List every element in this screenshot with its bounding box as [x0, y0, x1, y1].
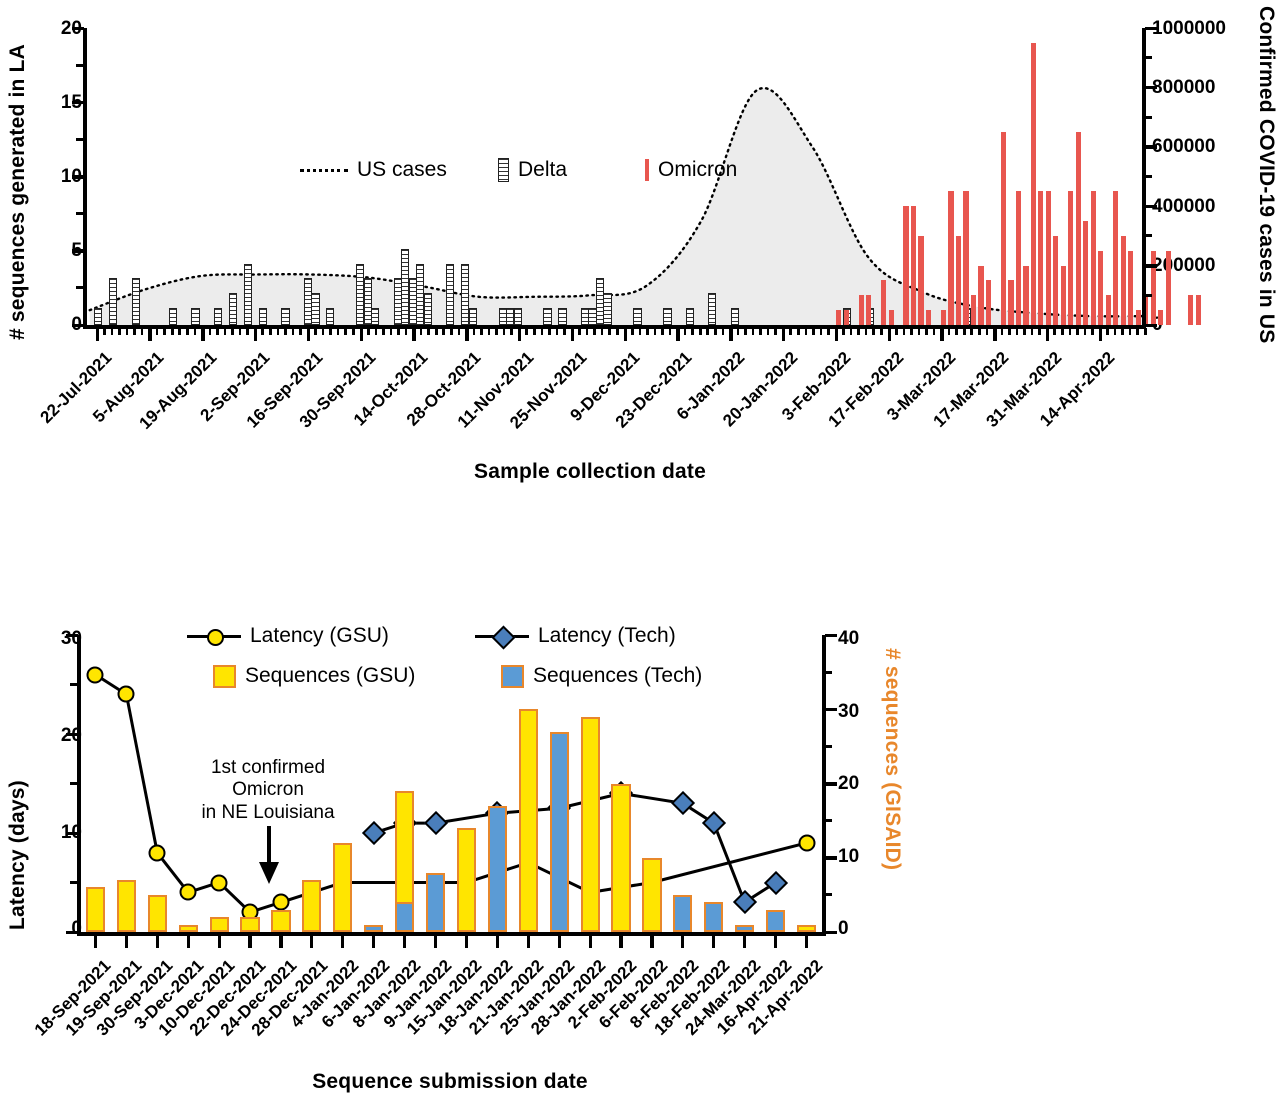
omicron-bar: [1061, 266, 1066, 325]
axis-tick: [797, 328, 800, 335]
axis-tick: [548, 328, 551, 335]
axis-tick: [888, 328, 892, 341]
sequences-gsu-bar: [642, 858, 661, 932]
latency-gsu-marker: [798, 834, 815, 851]
axis-tick: [216, 328, 219, 335]
axis-tick: [1145, 324, 1157, 328]
axis-tick: [948, 328, 951, 335]
axis-tick: [774, 328, 777, 335]
axis-tick: [986, 328, 989, 335]
axis-tick: [714, 328, 717, 335]
axis-tick: [148, 328, 152, 341]
sequences-tech-bar-overlay: [395, 902, 414, 932]
sequences-tech-bar: [488, 806, 507, 932]
axis-tick: [676, 328, 680, 341]
axis-tick: [465, 935, 468, 948]
bottom-right-ytick-0: 0: [838, 918, 849, 940]
axis-tick: [1084, 328, 1087, 335]
delta-bar: [311, 293, 319, 325]
axis-tick: [397, 328, 400, 335]
legend-item-us-cases[interactable]: US cases: [300, 158, 447, 182]
bottom-x-tick-labels: 18-Sep-202119-Sep-202130-Sep-20213-Dec-2…: [0, 600, 1280, 760]
latency-tech-marker: [671, 791, 695, 815]
delta-bar: [109, 278, 117, 325]
axis-tick: [277, 328, 280, 335]
axis-tick: [405, 328, 408, 335]
omicron-bar: [1128, 251, 1133, 325]
axis-tick: [442, 328, 445, 335]
axis-tick: [382, 328, 385, 335]
axis-tick: [872, 328, 875, 335]
axis-tick: [510, 328, 513, 335]
axis-tick: [918, 328, 921, 335]
sequences-tech-bar: [364, 925, 383, 932]
axis-tick: [978, 328, 981, 335]
axis-tick: [261, 328, 264, 335]
axis-tick: [835, 328, 839, 341]
axis-tick: [329, 328, 332, 335]
axis-tick: [156, 328, 159, 335]
delta-bar: [663, 308, 671, 325]
axis-tick: [624, 328, 628, 341]
axis-tick: [963, 328, 966, 335]
delta-bar: [603, 293, 611, 325]
axis-tick: [126, 328, 129, 335]
delta-bar: [169, 308, 177, 325]
axis-tick: [171, 328, 174, 335]
sequences-gsu-bar: [333, 843, 352, 932]
omicron-bar: [1151, 251, 1156, 325]
delta-bar: [132, 278, 140, 325]
axis-tick: [661, 328, 664, 335]
red-bar-icon: [645, 159, 649, 181]
axis-tick: [699, 328, 702, 335]
axis-tick: [827, 328, 830, 335]
axis-tick: [186, 328, 189, 335]
axis-tick: [1076, 328, 1079, 335]
axis-tick: [337, 328, 340, 335]
sequences-gsu-bar: [581, 717, 600, 932]
axis-tick: [812, 328, 815, 335]
omicron-bar: [903, 206, 908, 325]
axis-tick: [224, 328, 227, 335]
axis-tick: [269, 328, 272, 335]
axis-tick: [639, 328, 642, 335]
omicron-bar: [978, 266, 983, 325]
axis-tick: [141, 328, 144, 335]
omicron-bar: [1008, 280, 1013, 325]
omicron-bar: [956, 236, 961, 325]
axis-tick: [70, 881, 78, 884]
axis-tick: [654, 328, 657, 335]
legend-label-delta: Delta: [518, 158, 567, 182]
latency-gsu-marker: [180, 884, 197, 901]
omicron-bar: [866, 295, 871, 325]
axis-tick: [1106, 328, 1109, 335]
axis-tick: [825, 856, 837, 860]
legend-label-us-cases: US cases: [357, 158, 447, 182]
axis-tick: [360, 328, 364, 341]
axis-tick: [239, 328, 242, 335]
top-right-ytick-200000: 200000: [1152, 255, 1215, 277]
axis-tick: [616, 328, 619, 335]
axis-tick: [352, 328, 355, 335]
omicron-annotation-line3: in NE Louisiana: [183, 802, 353, 824]
axis-tick: [825, 931, 837, 935]
axis-tick: [310, 935, 313, 948]
axis-tick: [608, 328, 611, 335]
axis-tick: [805, 328, 808, 335]
sequences-gsu-bar: [611, 784, 630, 933]
axis-tick: [1061, 328, 1064, 335]
axis-tick: [1144, 328, 1147, 335]
figure-root: # sequences generated in LA Confirmed CO…: [0, 0, 1280, 1096]
delta-bar: [633, 308, 641, 325]
axis-tick: [72, 324, 84, 328]
axis-tick: [66, 931, 78, 935]
axis-tick: [1031, 328, 1034, 335]
omicron-bar: [986, 280, 991, 325]
axis-tick: [556, 328, 559, 335]
axis-tick: [910, 328, 913, 335]
omicron-bar: [889, 310, 894, 325]
axis-tick: [767, 328, 770, 335]
omicron-bar: [1001, 132, 1006, 325]
axis-tick: [279, 935, 282, 948]
axis-tick: [367, 328, 370, 335]
axis-tick: [820, 328, 823, 335]
sequences-gsu-bar: [148, 895, 167, 932]
sequences-tech-bar: [550, 732, 569, 932]
omicron-bar: [859, 295, 864, 325]
axis-tick: [322, 328, 325, 335]
omicron-bar: [836, 310, 841, 325]
latency-tech-marker: [702, 811, 726, 835]
axis-tick: [1016, 328, 1019, 335]
axis-tick: [842, 328, 845, 335]
axis-tick: [403, 935, 406, 948]
omicron-bar: [1136, 310, 1141, 325]
axis-tick: [880, 328, 883, 335]
axis-tick: [458, 328, 461, 335]
axis-tick: [805, 935, 808, 948]
axis-tick: [865, 328, 868, 335]
delta-bar: [214, 308, 222, 325]
sequences-tech-bar: [673, 895, 692, 932]
legend-label-omicron: Omicron: [658, 158, 737, 182]
delta-bar: [371, 308, 379, 325]
axis-tick: [218, 935, 221, 948]
axis-tick: [993, 328, 997, 341]
bottom-x-axis-title: Sequence submission date: [0, 1070, 900, 1094]
axis-tick: [774, 935, 777, 948]
omicron-bar: [1083, 221, 1088, 325]
axis-tick: [412, 328, 416, 341]
axis-tick: [933, 328, 936, 335]
axis-tick: [254, 328, 258, 341]
latency-gsu-marker: [211, 874, 228, 891]
axis-tick: [619, 935, 622, 948]
delta-bar: [259, 308, 267, 325]
axis-tick: [1145, 205, 1157, 209]
axis-tick: [231, 328, 234, 335]
axis-tick: [940, 328, 944, 341]
omicron-bar: [1098, 251, 1103, 325]
axis-tick: [650, 935, 653, 948]
omicron-bar: [1158, 310, 1163, 325]
bottom-right-ytick-10: 10: [838, 846, 859, 868]
axis-tick: [246, 328, 249, 335]
axis-tick: [1121, 328, 1124, 335]
axis-tick: [299, 328, 302, 335]
axis-tick: [201, 328, 205, 341]
sequences-gsu-bar: [302, 880, 321, 932]
axis-tick: [857, 328, 860, 335]
axis-tick: [578, 328, 581, 335]
omicron-bar: [911, 206, 916, 325]
axis-tick: [76, 286, 84, 289]
axis-tick: [1145, 294, 1152, 297]
axis-tick: [495, 328, 498, 335]
omicron-bar: [1106, 295, 1111, 325]
omicron-bar: [1091, 191, 1096, 325]
omicron-bar: [918, 236, 923, 325]
bottom-latency-panel: Latency (days) # sequences (GISAID) 0 10…: [0, 600, 1280, 1096]
axis-tick: [480, 328, 483, 335]
axis-tick: [496, 935, 499, 948]
sequences-gsu-bar: [210, 917, 229, 932]
axis-tick: [284, 328, 287, 335]
omicron-bar: [926, 310, 931, 325]
axis-tick: [541, 328, 544, 335]
omicron-bar: [1046, 191, 1051, 325]
axis-tick: [1053, 328, 1056, 335]
axis-tick: [589, 935, 592, 948]
hatched-bar-icon: [498, 158, 509, 182]
axis-tick: [850, 328, 853, 335]
axis-tick: [1038, 328, 1041, 335]
omicron-bar: [971, 295, 976, 325]
omicron-bar: [1076, 132, 1081, 325]
sequences-tech-bar: [766, 910, 785, 932]
omicron-bar: [1068, 191, 1073, 325]
axis-tick: [586, 328, 589, 335]
axis-tick: [465, 328, 469, 341]
top-x-tick-labels: 22-Jul-20215-Aug-202119-Aug-20212-Sep-20…: [0, 0, 1280, 160]
axis-tick: [955, 328, 958, 335]
axis-tick: [156, 935, 159, 948]
axis-tick: [646, 328, 649, 335]
delta-bar: [281, 308, 289, 325]
axis-tick: [72, 175, 84, 179]
sequences-gsu-bar: [797, 925, 816, 932]
axis-tick: [427, 328, 430, 335]
latency-gsu-marker: [272, 894, 289, 911]
top-right-ytick-400000: 400000: [1152, 196, 1215, 218]
axis-tick: [743, 935, 746, 948]
latency-tech-marker: [764, 870, 788, 894]
axis-tick: [1129, 328, 1132, 335]
sequences-gsu-bar: [457, 828, 476, 932]
omicron-annotation-line2: Omicron: [183, 779, 353, 801]
sequences-gsu-bar: [86, 887, 105, 932]
sequences-tech-bar: [735, 925, 754, 932]
axis-tick: [737, 328, 740, 335]
delta-bar: [326, 308, 334, 325]
axis-tick: [187, 935, 190, 948]
axis-tick: [533, 328, 536, 335]
axis-tick: [314, 328, 317, 335]
axis-tick: [527, 935, 530, 948]
axis-tick: [209, 328, 212, 335]
axis-tick: [1145, 175, 1152, 178]
omicron-annotation: 1st confirmed Omicron in NE Louisiana: [183, 757, 353, 824]
axis-tick: [420, 328, 423, 335]
axis-tick: [691, 328, 694, 335]
axis-tick: [194, 328, 197, 335]
latency-gsu-marker: [149, 844, 166, 861]
omicron-bar: [963, 191, 968, 325]
axis-tick: [163, 328, 166, 335]
top-legend: US cases Delta Omicron: [300, 158, 820, 192]
axis-tick: [503, 328, 506, 335]
axis-tick: [712, 935, 715, 948]
annotation-arrow-icon: [249, 826, 289, 888]
axis-tick: [1046, 328, 1050, 341]
axis-tick: [1136, 328, 1139, 335]
omicron-bar: [1113, 191, 1118, 325]
axis-tick: [248, 935, 251, 948]
axis-tick: [344, 328, 347, 335]
axis-tick: [118, 328, 121, 335]
omicron-bar: [881, 280, 886, 325]
omicron-bar: [1053, 236, 1058, 325]
omicron-bar: [1196, 295, 1201, 325]
delta-bar: [686, 308, 694, 325]
axis-tick: [125, 935, 128, 948]
axis-tick: [825, 893, 832, 896]
delta-bar: [514, 308, 522, 325]
axis-tick: [70, 782, 78, 785]
axis-tick: [729, 328, 733, 341]
axis-tick: [759, 328, 762, 335]
axis-tick: [435, 328, 438, 335]
legend-item-omicron[interactable]: Omicron: [645, 158, 737, 182]
axis-tick: [375, 328, 378, 335]
axis-tick: [1099, 328, 1103, 341]
omicron-bar: [948, 191, 953, 325]
latency-tech-marker: [733, 890, 757, 914]
delta-bar: [558, 308, 566, 325]
axis-tick: [903, 328, 906, 335]
delta-bar: [446, 264, 454, 325]
axis-tick: [558, 935, 561, 948]
axis-tick: [111, 328, 114, 335]
axis-tick: [66, 832, 78, 836]
axis-tick: [631, 328, 634, 335]
axis-tick: [593, 328, 596, 335]
axis-tick: [706, 328, 709, 335]
delta-bar: [94, 308, 102, 325]
axis-tick: [601, 328, 604, 335]
sequences-gsu-bar: [240, 917, 259, 932]
top-x-axis-title: Sample collection date: [0, 460, 1180, 484]
delta-bar: [731, 308, 739, 325]
axis-tick: [96, 328, 100, 341]
omicron-bar: [1121, 236, 1126, 325]
axis-tick: [563, 328, 566, 335]
axis-tick: [488, 328, 491, 335]
delta-bar: [708, 293, 716, 325]
sequences-gsu-bar: [117, 880, 136, 932]
axis-tick: [895, 328, 898, 335]
axis-tick: [1069, 328, 1072, 335]
axis-tick: [925, 328, 928, 335]
axis-tick: [669, 328, 672, 335]
axis-tick: [1023, 328, 1026, 335]
axis-tick: [1091, 328, 1094, 335]
axis-tick: [744, 328, 747, 335]
axis-tick: [434, 935, 437, 948]
axis-tick: [1008, 328, 1011, 335]
latency-tech-marker: [362, 821, 386, 845]
legend-item-delta[interactable]: Delta: [498, 158, 567, 182]
omicron-bar: [1016, 191, 1021, 325]
axis-tick: [133, 328, 136, 335]
omicron-bar: [844, 310, 849, 325]
axis-tick: [1145, 264, 1157, 268]
axis-tick: [1145, 234, 1152, 237]
sequences-gsu-bar: [519, 709, 538, 932]
axis-tick: [76, 212, 84, 215]
omicron-bar: [941, 310, 946, 325]
axis-tick: [525, 328, 528, 335]
axis-tick: [681, 935, 684, 948]
sequences-gsu-bar: [179, 925, 198, 932]
axis-tick: [292, 328, 295, 335]
axis-tick: [722, 328, 725, 335]
sequences-gsu-bar: [271, 910, 290, 932]
axis-tick: [970, 328, 973, 335]
delta-bar: [469, 308, 477, 325]
axis-tick: [789, 328, 792, 335]
delta-bar: [244, 264, 252, 325]
axis-tick: [1114, 328, 1117, 335]
axis-tick: [782, 328, 786, 341]
axis-tick: [518, 328, 522, 341]
sequences-tech-bar: [704, 902, 723, 932]
axis-tick: [752, 328, 755, 335]
axis-tick: [390, 328, 393, 335]
axis-tick: [372, 935, 375, 948]
latency-tech-marker: [424, 811, 448, 835]
axis-tick: [825, 782, 837, 786]
axis-tick: [72, 249, 84, 253]
delta-bar: [543, 308, 551, 325]
axis-tick: [341, 935, 344, 948]
axis-tick: [473, 328, 476, 335]
axis-tick: [307, 328, 311, 341]
axis-tick: [103, 328, 106, 335]
omicron-bar: [1188, 295, 1193, 325]
omicron-bar: [1023, 266, 1028, 325]
omicron-annotation-line1: 1st confirmed: [183, 757, 353, 779]
axis-tick: [450, 328, 453, 335]
axis-tick: [571, 328, 575, 341]
axis-tick: [94, 935, 97, 948]
axis-tick: [178, 328, 181, 335]
delta-bar: [424, 293, 432, 325]
